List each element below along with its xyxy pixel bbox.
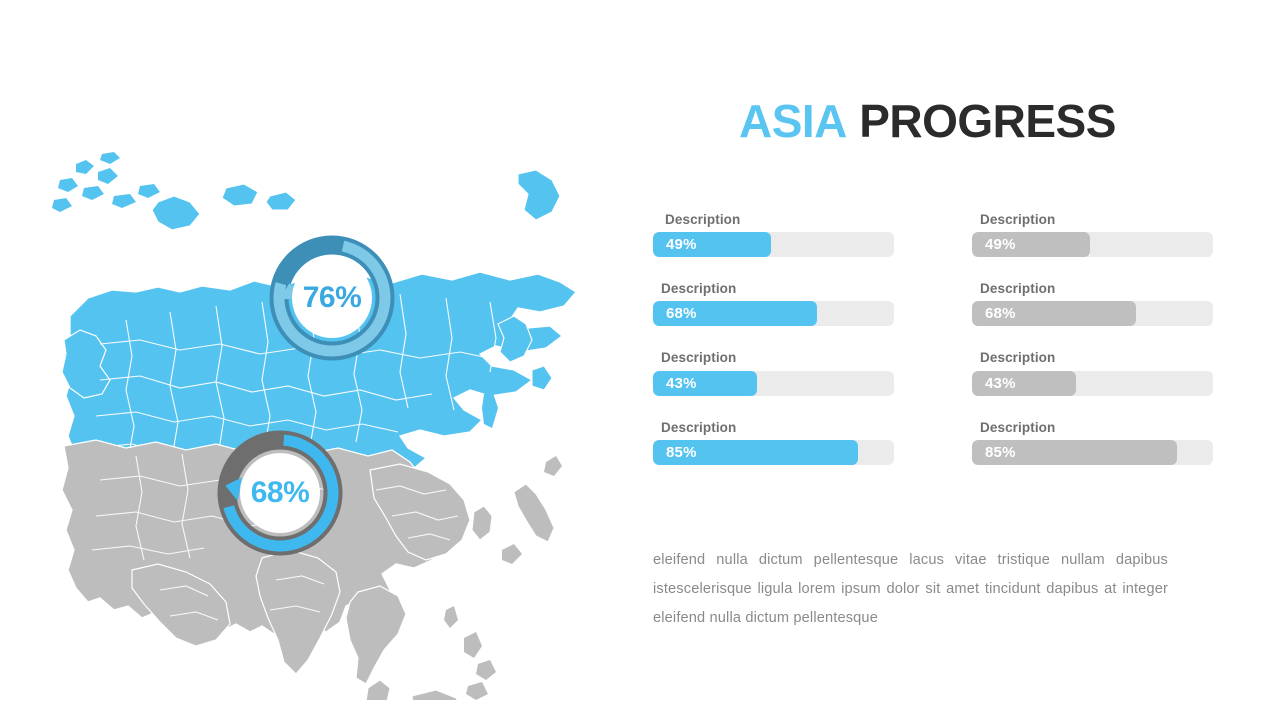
progress-track-left-1[interactable]: 49% [653, 232, 894, 257]
progress-track-right-4[interactable]: 85% [972, 440, 1213, 465]
progress-label-left-3: Description [653, 350, 894, 366]
progress-item-left-2: Description 68% [653, 281, 894, 326]
progress-item-left-3: Description 43% [653, 350, 894, 395]
progress-value-left-2: 68% [653, 305, 697, 322]
progress-item-left-4: Description 85% [653, 420, 894, 465]
progress-item-right-3: Description 43% [972, 350, 1213, 395]
progress-column-right: Description 49% Description 68% [972, 212, 1213, 489]
progress-label-left-4: Description [653, 420, 894, 436]
progress-label-left-2: Description [653, 281, 894, 297]
progress-track-right-1[interactable]: 49% [972, 232, 1213, 257]
asia-map-panel: 76% 68% [40, 140, 620, 700]
progress-bars-section: Description 49% Description 68% [653, 212, 1213, 489]
progress-value-left-4: 85% [653, 444, 697, 461]
progress-value-left-3: 43% [653, 375, 697, 392]
progress-label-right-3: Description [972, 350, 1213, 366]
progress-fill-right-2: 68% [972, 301, 1136, 326]
progress-label-right-4: Description [972, 420, 1213, 436]
progress-fill-left-1: 49% [653, 232, 771, 257]
progress-item-right-4: Description 85% [972, 420, 1213, 465]
asia-map-svg [40, 140, 620, 700]
progress-item-left-1: Description 49% [653, 212, 894, 257]
column-gap [894, 212, 963, 489]
progress-track-left-4[interactable]: 85% [653, 440, 894, 465]
progress-value-right-2: 68% [972, 305, 1016, 322]
progress-column-left: Description 49% Description 68% [653, 212, 894, 489]
progress-fill-left-3: 43% [653, 371, 757, 396]
progress-fill-left-2: 68% [653, 301, 817, 326]
progress-label-right-1: Description [972, 212, 1213, 228]
progress-fill-left-4: 85% [653, 440, 858, 465]
page-title-rest: PROGRESS [859, 95, 1116, 147]
donut-south-asia-progress: 68% [215, 428, 345, 558]
progress-value-right-4: 85% [972, 444, 1016, 461]
content-panel: ASIA PROGRESS Description 49% De [653, 0, 1213, 720]
progress-value-right-1: 49% [972, 236, 1016, 253]
progress-track-left-2[interactable]: 68% [653, 301, 894, 326]
progress-value-left-1: 49% [653, 236, 697, 253]
progress-track-right-3[interactable]: 43% [972, 371, 1213, 396]
page-title: ASIA PROGRESS [739, 98, 1116, 144]
progress-item-right-2: Description 68% [972, 281, 1213, 326]
progress-fill-right-3: 43% [972, 371, 1076, 396]
progress-fill-right-4: 85% [972, 440, 1177, 465]
progress-fill-right-1: 49% [972, 232, 1090, 257]
page-title-accent: ASIA [739, 95, 847, 147]
progress-label-right-2: Description [972, 281, 1213, 297]
progress-label-left-1: Description [653, 212, 894, 228]
slide-root: 76% 68% ASIA PROGRESS Description [0, 0, 1280, 720]
progress-value-right-3: 43% [972, 375, 1016, 392]
progress-track-right-2[interactable]: 68% [972, 301, 1213, 326]
donut-north-asia-progress: 76% [267, 233, 397, 363]
body-paragraph: eleifend nulla dictum pellentesque lacus… [653, 546, 1168, 633]
progress-track-left-3[interactable]: 43% [653, 371, 894, 396]
progress-item-right-1: Description 49% [972, 212, 1213, 257]
